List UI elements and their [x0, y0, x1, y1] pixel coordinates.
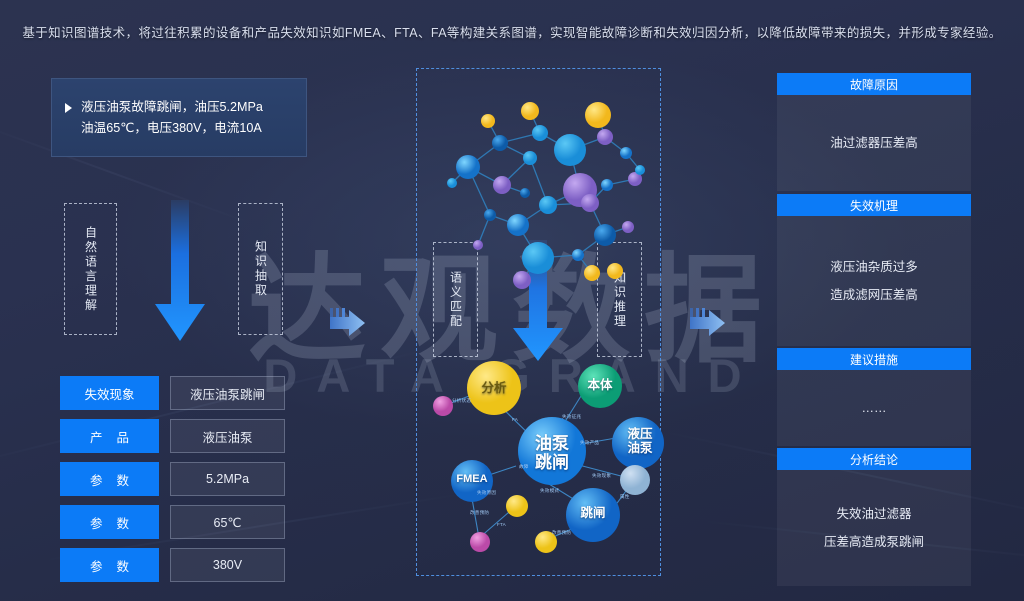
field-value: 380V: [170, 548, 285, 582]
result-card-title: 分析结论: [777, 448, 971, 470]
result-card: 建议措施……: [777, 348, 971, 446]
table-row: 产品液压油泵: [60, 419, 285, 453]
result-card-title: 建议措施: [777, 348, 971, 370]
query-line-1: 液压油泵故障跳闸，油压5.2MPa: [81, 97, 263, 118]
result-card-body: 油过滤器压差高: [777, 95, 971, 191]
result-card-title: 失效机理: [777, 194, 971, 216]
result-card-body: ……: [777, 370, 971, 446]
right-arrow-icon: [690, 308, 726, 338]
result-card: 分析结论失效油过滤器压差高造成泵跳闸: [777, 448, 971, 586]
result-card: 故障原因油过滤器压差高: [777, 73, 971, 191]
result-card-body: 失效油过滤器压差高造成泵跳闸: [777, 470, 971, 586]
slide-canvas: 基于知识图谱技术，将过往积累的设备和产品失效知识如FMEA、FTA、FA等构建关…: [0, 0, 1024, 601]
extracted-fields-table: 失效现象液压油泵跳闸产品液压油泵参数5.2MPa参数65℃参数380V: [60, 376, 285, 591]
field-value: 液压油泵跳闸: [170, 376, 285, 410]
table-row: 参数380V: [60, 548, 285, 582]
flow-arrow-left: [330, 308, 348, 325]
result-line: ……: [862, 394, 887, 422]
table-row: 参数5.2MPa: [60, 462, 285, 496]
field-key: 参数: [60, 548, 159, 582]
result-card-body: 液压油杂质过多造成滤网压差高: [777, 216, 971, 346]
query-input-box[interactable]: 液压油泵故障跳闸，油压5.2MPa 油温65℃，电压380V，电流10A: [51, 78, 307, 157]
stage-label-extract: 知识抽取: [255, 240, 267, 298]
page-title: 基于知识图谱技术，将过往积累的设备和产品失效知识如FMEA、FTA、FA等构建关…: [0, 22, 1024, 41]
flow-arrow-right: [690, 308, 708, 325]
table-row: 参数65℃: [60, 505, 285, 539]
stage-label-nlu: 自然语言理解: [85, 226, 97, 313]
right-arrow-icon: [330, 308, 366, 338]
result-card: 失效机理液压油杂质过多造成滤网压差高: [777, 194, 971, 346]
field-key: 参数: [60, 505, 159, 539]
table-row: 失效现象液压油泵跳闸: [60, 376, 285, 410]
result-line: 液压油杂质过多: [830, 253, 918, 281]
result-line: 压差高造成泵跳闸: [824, 528, 924, 556]
stage-box-nlu: 自然语言理解: [64, 203, 117, 335]
entity-relation-graph: [416, 358, 664, 573]
result-line: 油过滤器压差高: [830, 129, 918, 157]
play-triangle-icon: [65, 103, 72, 113]
result-card-title: 故障原因: [777, 73, 971, 95]
result-line: 造成滤网压差高: [830, 281, 918, 309]
query-line-2: 油温65℃，电压380V，电流10A: [81, 118, 263, 139]
field-key: 参数: [60, 462, 159, 496]
molecule-cluster: [430, 75, 660, 290]
stage-box-extract: 知识抽取: [238, 203, 283, 335]
field-value: 5.2MPa: [170, 462, 285, 496]
field-value: 液压油泵: [170, 419, 285, 453]
down-arrow-left-icon: [150, 200, 210, 345]
field-key: 产品: [60, 419, 159, 453]
result-line: 失效油过滤器: [836, 500, 911, 528]
field-value: 65℃: [170, 505, 285, 539]
field-key: 失效现象: [60, 376, 159, 410]
